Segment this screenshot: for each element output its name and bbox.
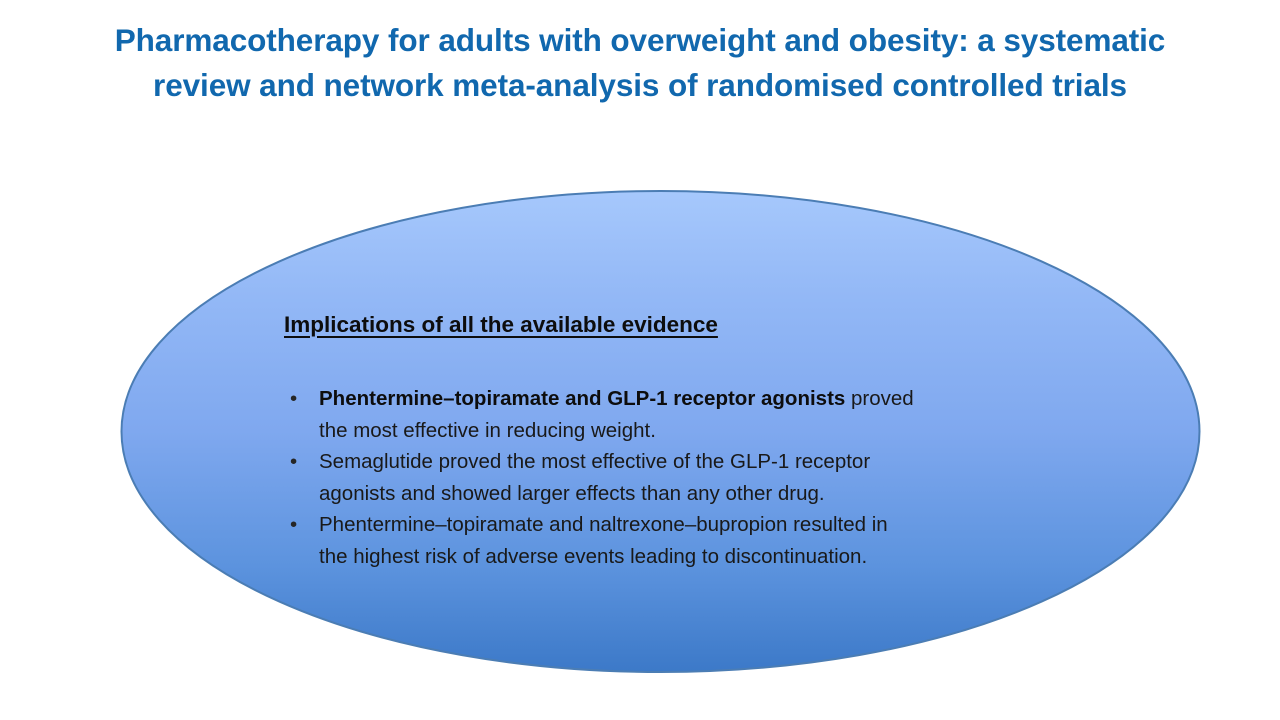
list-item-bold-text: Phentermine–topiramate and GLP-1 recepto…: [319, 387, 845, 410]
list-item: • Semaglutide proved the most effective …: [284, 446, 1044, 509]
evidence-heading: Implications of all the available eviden…: [284, 310, 1044, 340]
list-item-line1: Phentermine–topiramate and GLP-1 recepto…: [319, 383, 1044, 415]
list-item: • Phentermine–topiramate and naltrexone–…: [284, 509, 1044, 572]
list-item: • Phentermine–topiramate and GLP-1 recep…: [284, 383, 1044, 446]
bullet-dot-icon: •: [290, 383, 297, 415]
page-title: Pharmacotherapy for adults with overweig…: [64, 18, 1216, 108]
list-item-line1: Semaglutide proved the most effective of…: [319, 446, 1044, 478]
evidence-text-block: Implications of all the available eviden…: [284, 310, 1044, 572]
list-item-line2: the highest risk of adverse events leadi…: [319, 541, 1044, 573]
list-item-line1: Phentermine–topiramate and naltrexone–bu…: [319, 509, 1044, 541]
list-item-line2: the most effective in reducing weight.: [319, 415, 1044, 447]
presentation-slide: Pharmacotherapy for adults with overweig…: [0, 0, 1280, 720]
evidence-bullet-list: • Phentermine–topiramate and GLP-1 recep…: [284, 383, 1044, 572]
list-item-line2: agonists and showed larger effects than …: [319, 478, 1044, 510]
bullet-dot-icon: •: [290, 446, 297, 478]
bullet-dot-icon: •: [290, 509, 297, 541]
list-item-regular-text: proved: [845, 387, 913, 410]
